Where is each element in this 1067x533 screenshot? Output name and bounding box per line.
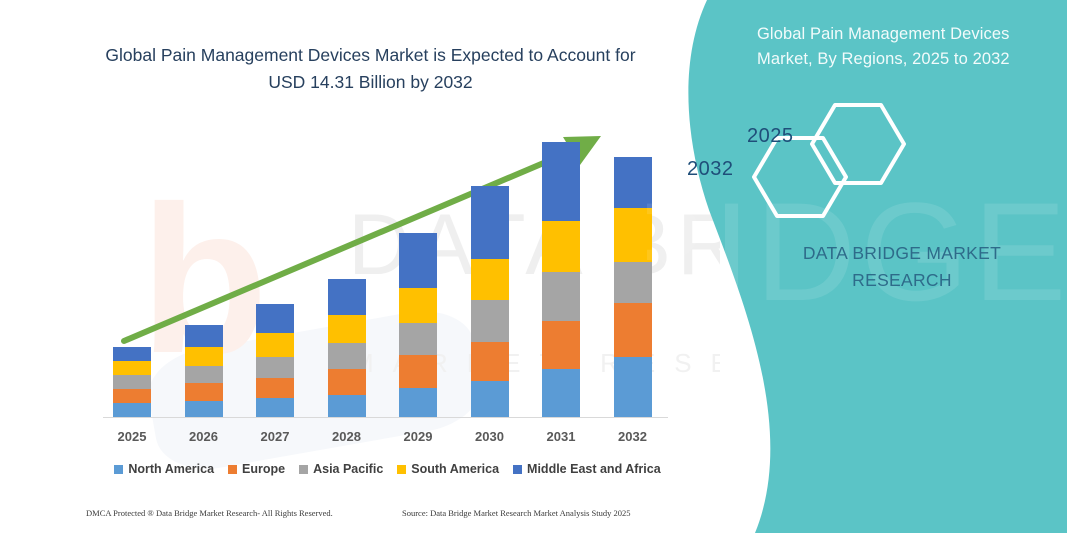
segment-north-america (113, 403, 151, 417)
growth-trend-arrow (0, 0, 720, 533)
bar-2025 (113, 347, 151, 417)
hexagon-2032-label: 2032 (687, 158, 734, 181)
x-label-2027: 2027 (245, 429, 305, 444)
bar-2027 (256, 304, 294, 417)
segment-asia-pacific (256, 357, 294, 378)
segment-europe (256, 378, 294, 399)
segment-south-america (542, 221, 580, 272)
stacked-bar-chart: 20252026202720282029203020312032 North A… (0, 0, 720, 533)
segment-middle-east-and-africa (185, 325, 223, 347)
x-label-2026: 2026 (174, 429, 234, 444)
legend-item-middle-east-and-africa[interactable]: Middle East and Africa (513, 462, 661, 476)
footer: DMCA Protected ® Data Bridge Market Rese… (0, 508, 720, 528)
segment-europe (614, 303, 652, 356)
segment-europe (113, 389, 151, 403)
segment-europe (471, 342, 509, 381)
segment-south-america (399, 288, 437, 323)
segment-middle-east-and-africa (542, 142, 580, 221)
legend-label: Middle East and Africa (527, 462, 661, 476)
segment-north-america (256, 398, 294, 417)
segment-asia-pacific (614, 262, 652, 304)
segment-south-america (614, 208, 652, 261)
segment-europe (542, 321, 580, 370)
segment-north-america (328, 395, 366, 417)
segment-asia-pacific (328, 343, 366, 370)
segment-north-america (399, 388, 437, 417)
legend-item-south-america[interactable]: South America (397, 462, 499, 476)
x-label-2029: 2029 (388, 429, 448, 444)
segment-middle-east-and-africa (256, 304, 294, 333)
segment-south-america (185, 347, 223, 366)
x-label-2028: 2028 (317, 429, 377, 444)
legend-item-europe[interactable]: Europe (228, 462, 285, 476)
segment-asia-pacific (399, 323, 437, 355)
segment-middle-east-and-africa (399, 233, 437, 289)
legend-label: Europe (242, 462, 285, 476)
infographic-canvas: b DATA BRIDGE MARKET RESEARCH Global Pai… (0, 0, 1067, 533)
segment-north-america (471, 381, 509, 417)
segment-middle-east-and-africa (614, 157, 652, 208)
x-axis-labels: 20252026202720282029203020312032 (103, 429, 668, 447)
x-label-2031: 2031 (531, 429, 591, 444)
segment-north-america (614, 357, 652, 417)
segment-middle-east-and-africa (471, 186, 509, 259)
bar-2028 (328, 279, 366, 417)
segment-north-america (185, 401, 223, 417)
legend-swatch-icon (114, 465, 123, 474)
segment-asia-pacific (471, 300, 509, 342)
segment-asia-pacific (542, 272, 580, 321)
bar-2031 (542, 142, 580, 417)
legend-swatch-icon (299, 465, 308, 474)
bar-2030 (471, 186, 509, 417)
x-label-2025: 2025 (102, 429, 162, 444)
legend-label: Asia Pacific (313, 462, 383, 476)
chart-legend: North AmericaEuropeAsia PacificSouth Ame… (100, 460, 675, 478)
legend-swatch-icon (397, 465, 406, 474)
segment-south-america (113, 361, 151, 375)
legend-label: South America (411, 462, 499, 476)
copyright-text: DMCA Protected ® Data Bridge Market Rese… (86, 508, 333, 518)
legend-swatch-icon (228, 465, 237, 474)
segment-south-america (256, 333, 294, 356)
legend-label: North America (128, 462, 214, 476)
segment-north-america (542, 369, 580, 417)
segment-middle-east-and-africa (328, 279, 366, 315)
segment-asia-pacific (185, 366, 223, 383)
segment-south-america (471, 259, 509, 300)
hexagon-shapes (747, 95, 1047, 225)
legend-item-north-america[interactable]: North America (114, 462, 214, 476)
segment-asia-pacific (113, 375, 151, 389)
segment-south-america (328, 315, 366, 343)
bar-2029 (399, 233, 437, 417)
segment-europe (399, 355, 437, 387)
brand-name: DATA BRIDGE MARKET RESEARCH (757, 240, 1047, 294)
hexagon-pair (747, 95, 1047, 220)
panel-title: Global Pain Management Devices Market, B… (757, 22, 1047, 72)
bar-2032 (614, 157, 652, 417)
x-label-2030: 2030 (460, 429, 520, 444)
source-text: Source: Data Bridge Market Research Mark… (402, 508, 631, 518)
hexagon-2025-label: 2025 (747, 125, 794, 148)
segment-europe (185, 383, 223, 400)
segment-middle-east-and-africa (113, 347, 151, 361)
legend-item-asia-pacific[interactable]: Asia Pacific (299, 462, 383, 476)
bar-2026 (185, 325, 223, 417)
legend-swatch-icon (513, 465, 522, 474)
brand-panel: RIDGE Global Pain Management Devices Mar… (647, 0, 1067, 533)
x-axis-line (103, 417, 668, 418)
segment-europe (328, 369, 366, 395)
